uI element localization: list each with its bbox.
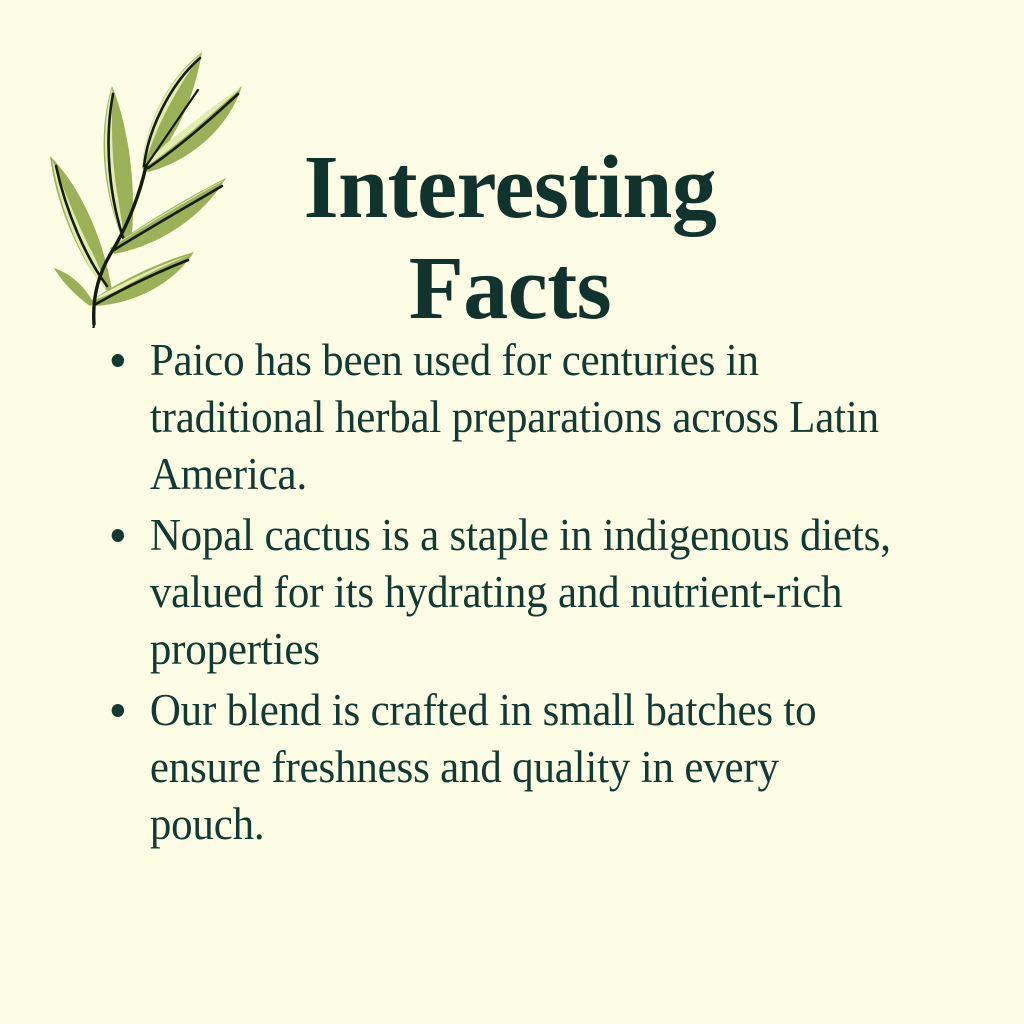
facts-list: Paico has been used for centuries in tra…: [104, 332, 934, 857]
list-item: Our blend is crafted in small batches to…: [104, 682, 897, 853]
leaf-lower-left: [54, 268, 94, 306]
leaf-upper-left: [104, 86, 134, 250]
page-title-line-1: Interesting: [245, 138, 775, 239]
page-title-line-2: Facts: [245, 239, 775, 340]
page-title: Interesting Facts: [245, 138, 775, 340]
leaf-group: [50, 52, 242, 328]
list-item: Nopal cactus is a staple in indigenous d…: [104, 507, 897, 678]
bullet-dot-icon: [112, 354, 124, 367]
leaf-lower-right: [92, 252, 194, 306]
list-item-text: Our blend is crafted in small batches to…: [150, 682, 897, 853]
stem-branch-upper: [146, 90, 198, 166]
bullet-dot-icon: [112, 529, 124, 542]
list-item-text: Nopal cactus is a staple in indigenous d…: [150, 507, 897, 678]
leaf-top-center: [142, 52, 202, 172]
leaf-middle-right: [110, 178, 226, 254]
leaf-top-right: [144, 86, 242, 172]
leaf-branch-icon: [34, 38, 264, 328]
list-item: Paico has been used for centuries in tra…: [104, 332, 897, 503]
bullet-dot-icon: [112, 704, 124, 717]
list-item-text: Paico has been used for centuries in tra…: [150, 332, 897, 503]
leaf-branch-svg: [34, 38, 264, 328]
stem-tail: [92, 324, 94, 328]
stem-main: [94, 166, 146, 324]
interesting-facts-card: Interesting Facts Paico has been used fo…: [0, 0, 1024, 1024]
leaf-middle-left: [50, 156, 112, 290]
